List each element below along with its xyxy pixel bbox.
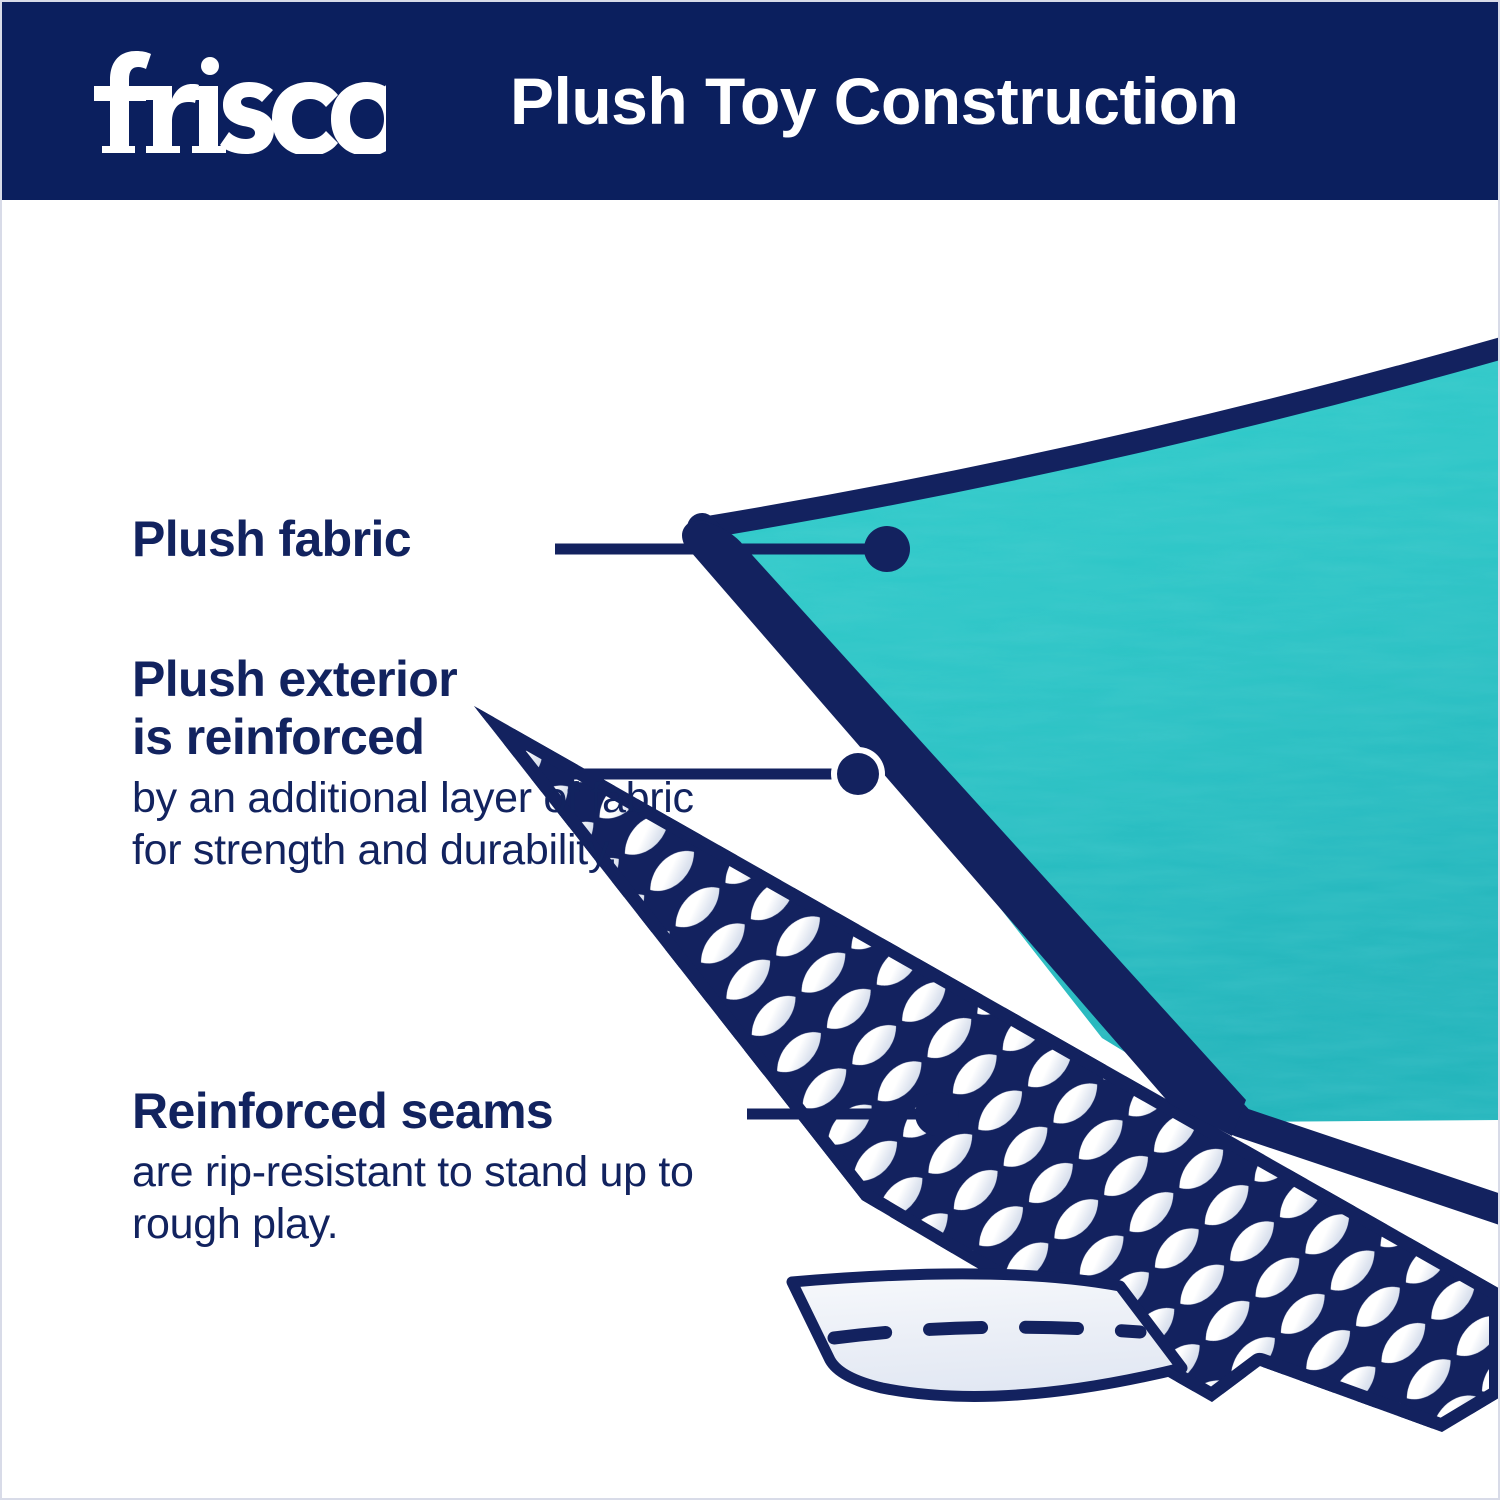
svg-text:R: R xyxy=(375,142,381,152)
frisco-logo: R xyxy=(86,44,386,154)
callout-heading: Plush fabric xyxy=(132,510,411,568)
page-title: Plush Toy Construction xyxy=(510,2,1238,200)
header-bar: R Plush Toy Construction xyxy=(2,2,1500,200)
leader-dot-plush-fabric xyxy=(864,526,910,572)
seam-flap xyxy=(792,1274,1182,1397)
leader-dot-reinforced-seams xyxy=(915,1092,959,1136)
callout-heading-line-2: is reinforced xyxy=(132,708,732,766)
leader-dot-plush-exterior xyxy=(837,753,879,795)
callout-body: by an additional layer of fabric for str… xyxy=(132,772,732,877)
callout-plush-exterior: Plush exterior is reinforced by an addit… xyxy=(132,650,732,877)
callout-heading-line-1: Plush exterior xyxy=(132,650,732,708)
callout-reinforced-seams: Reinforced seams are rip-resistant to st… xyxy=(132,1082,792,1251)
infographic-page: R Plush Toy Construction xyxy=(0,0,1500,1500)
callout-plush-fabric: Plush fabric xyxy=(132,510,411,568)
callout-body: are rip-resistant to stand up to rough p… xyxy=(132,1146,792,1251)
callout-heading: Reinforced seams xyxy=(132,1082,792,1140)
